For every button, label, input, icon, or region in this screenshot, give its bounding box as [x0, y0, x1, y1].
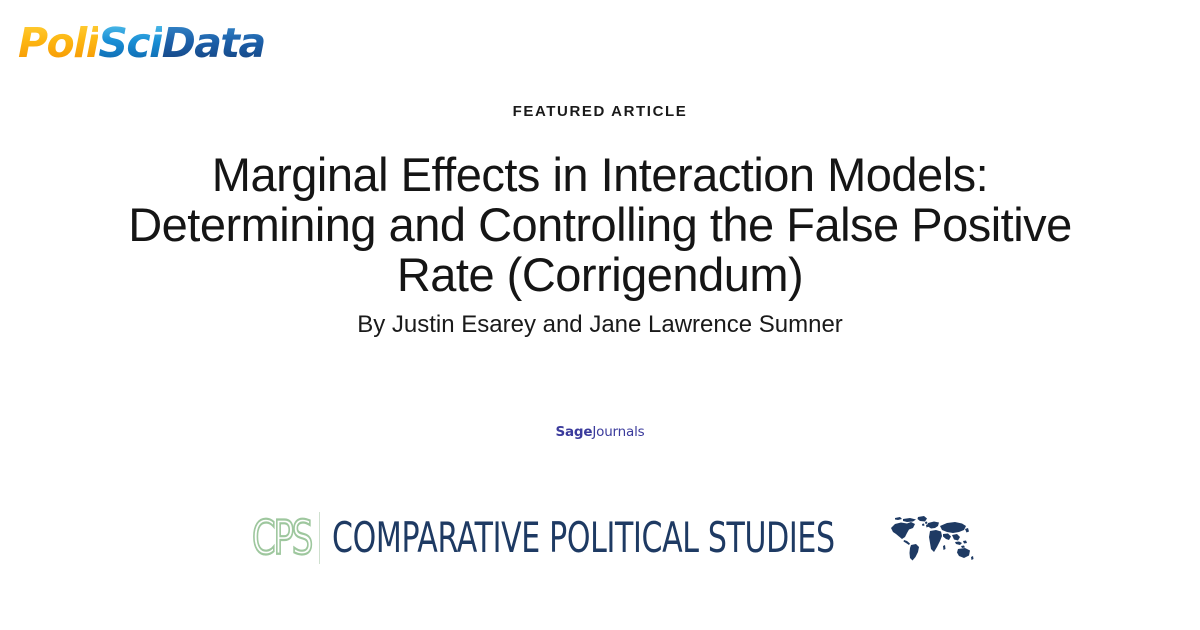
site-logo-wordmark: PoliSciData	[18, 23, 265, 64]
site-logo-segment-sci: Sci	[98, 19, 161, 67]
site-logo-segment-poli: Poli	[18, 19, 98, 67]
journal-logo[interactable]: CPS COMPARATIVE POLITICAL STUDIES	[0, 512, 1200, 564]
article-title: Marginal Effects in Interaction Models: …	[100, 150, 1100, 300]
journal-name: COMPARATIVE POLITICAL STUDIES	[332, 517, 835, 559]
publisher-name-bold: Sage	[556, 424, 593, 440]
journal-abbreviation: CPS	[252, 515, 319, 562]
featured-article-label: FEATURED ARTICLE	[0, 103, 1200, 120]
publisher-logo-sage-journals[interactable]: SageJournals	[0, 424, 1200, 440]
site-logo[interactable]: PoliSciData	[18, 16, 265, 70]
site-logo-segment-data: Data	[162, 19, 265, 67]
journal-logo-divider	[319, 512, 320, 564]
world-map-icon	[888, 513, 974, 563]
publisher-name-light: Journals	[592, 424, 644, 440]
article-byline: By Justin Esarey and Jane Lawrence Sumne…	[0, 311, 1200, 339]
